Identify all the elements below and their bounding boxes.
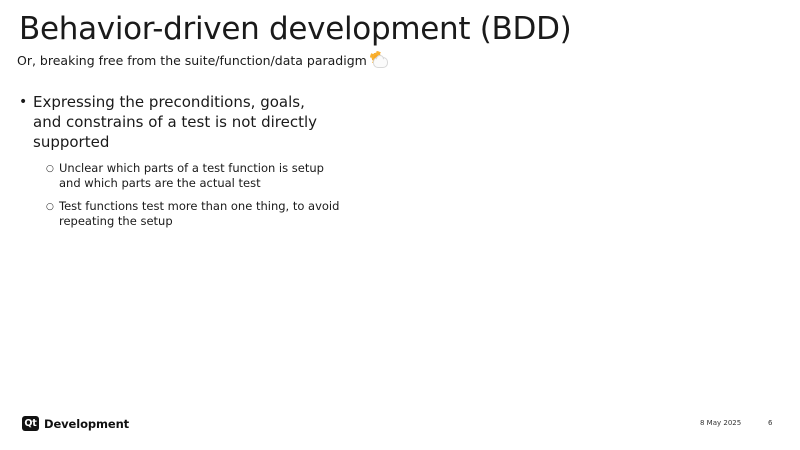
slide-canvas: Behavior-driven development (BDD) Or, br… — [0, 0, 800, 450]
sun-behind-cloud-icon — [371, 53, 386, 68]
sub-bullet-marker-icon: ○ — [46, 161, 59, 178]
brand-name-label: Development — [44, 417, 129, 431]
list-item: ○ Test functions test more than one thin… — [46, 199, 759, 229]
list-item-label: Expressing the preconditions, goals, and… — [33, 92, 333, 152]
slide-subtitle-text: Or, breaking free from the suite/functio… — [17, 53, 367, 68]
page-title: Behavior-driven development (BDD) — [19, 12, 779, 47]
sub-list: ○ Unclear which parts of a test function… — [19, 161, 759, 229]
sub-bullet-marker-icon: ○ — [46, 199, 59, 216]
footer-date: 8 May 2025 — [700, 419, 741, 427]
list-item-label: Test functions test more than one thing,… — [59, 199, 349, 229]
bullet-marker-icon: • — [19, 92, 33, 112]
list-item: • Expressing the preconditions, goals, a… — [19, 92, 759, 152]
list-item: ○ Unclear which parts of a test function… — [46, 161, 759, 191]
cloud-icon — [373, 57, 388, 68]
footer-page-number: 6 — [768, 419, 772, 427]
slide-footer: Qt Development 8 May 2025 6 — [0, 416, 800, 436]
qt-logo-icon: Qt — [22, 416, 39, 431]
list-item-label: Unclear which parts of a test function i… — [59, 161, 349, 191]
body-content: • Expressing the preconditions, goals, a… — [19, 92, 759, 237]
footer-brand: Qt Development — [22, 416, 129, 431]
slide-subtitle: Or, breaking free from the suite/functio… — [17, 53, 779, 68]
title-block: Behavior-driven development (BDD) Or, br… — [19, 12, 779, 68]
